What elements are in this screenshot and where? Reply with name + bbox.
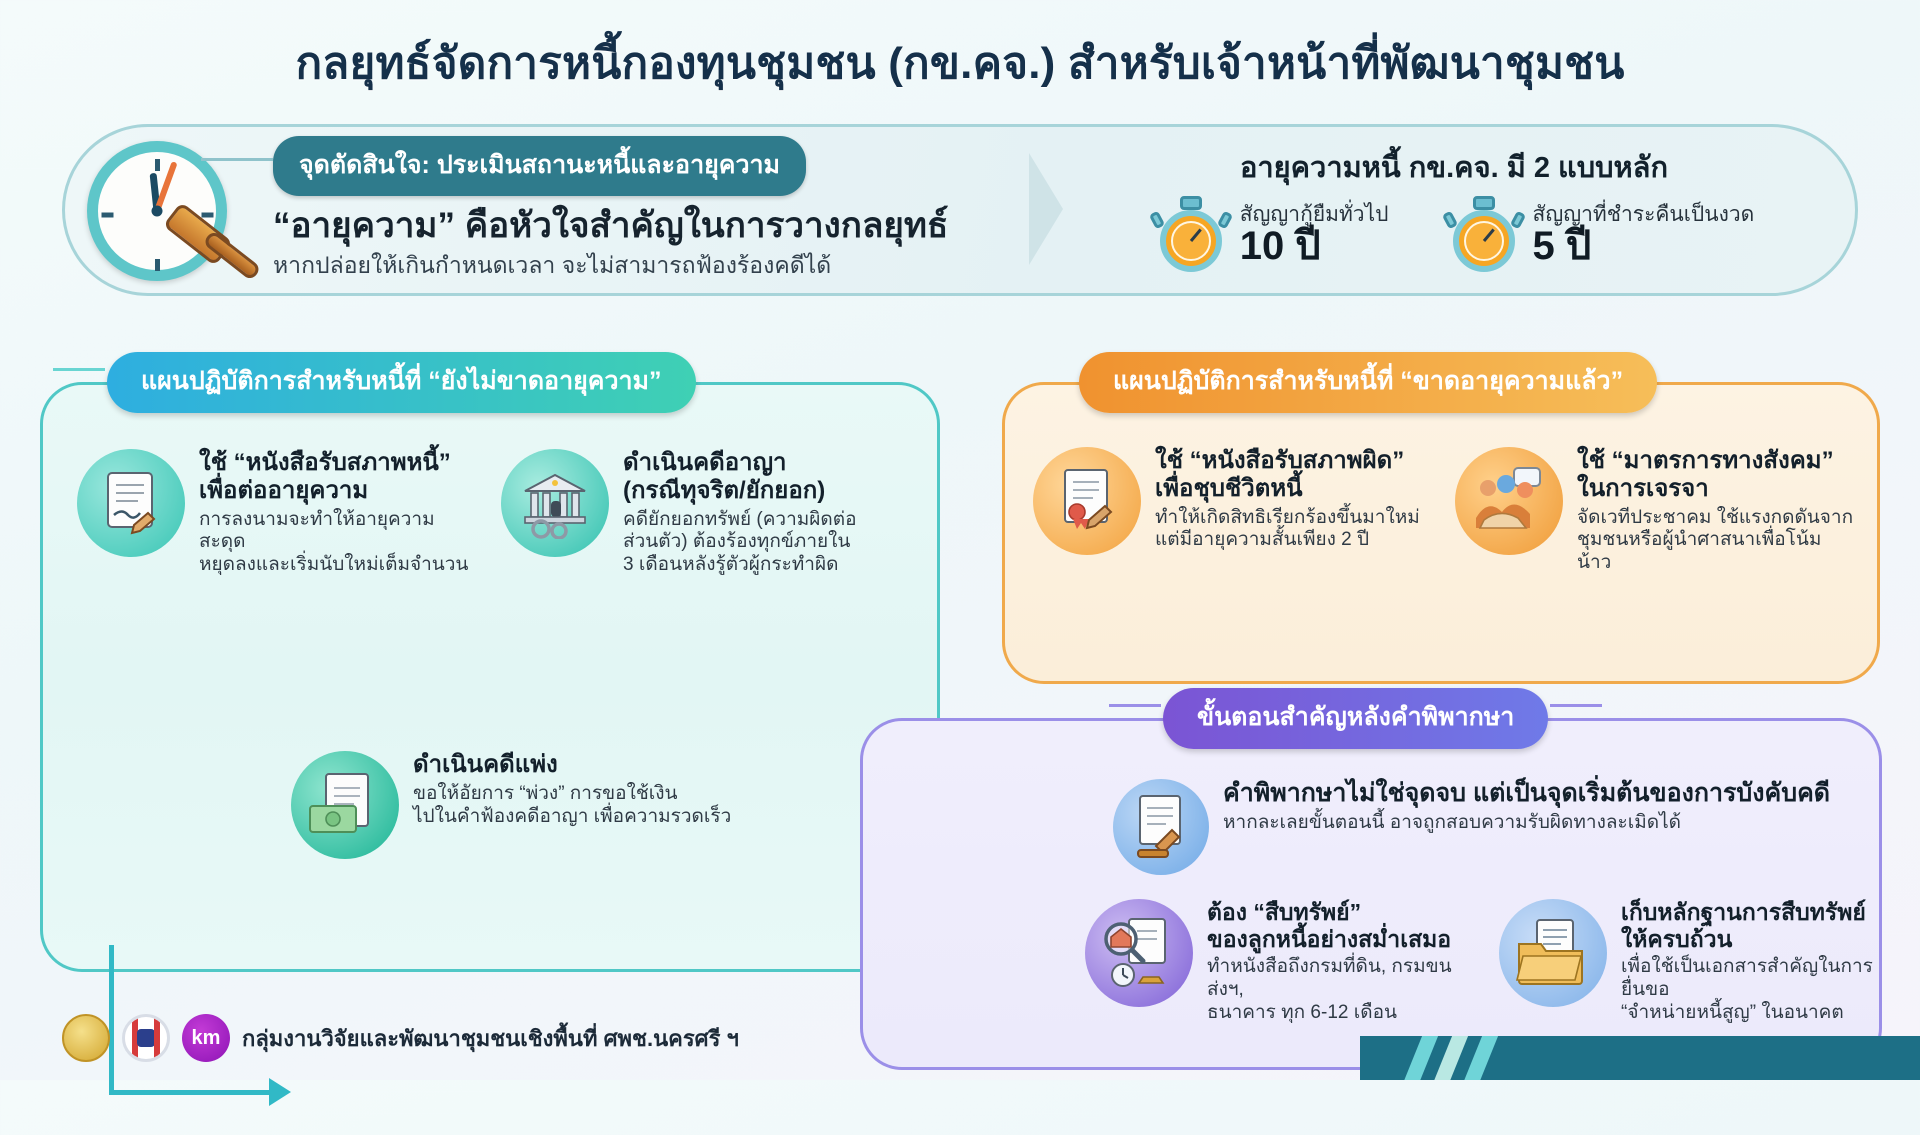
- card-body-line1: ทำให้เกิดสิทธิเรียกร้องขึ้นมาใหม่: [1155, 507, 1420, 528]
- card-body-line1: เพื่อใช้เป็นเอกสารสำคัญในการยื่นขอ: [1621, 956, 1873, 1000]
- chevron-right-icon: [1023, 135, 1077, 285]
- thai-flag-emblem-logo: [122, 1014, 170, 1062]
- stopwatch-icon: [1447, 194, 1521, 276]
- card-body-line2: ไปในคำฟ้องคดีอาญา เพื่อความรวดเร็ว: [413, 806, 731, 827]
- card-title-line2: เพื่อชุบชีวิตหนี้: [1155, 475, 1303, 502]
- header-connector-line-right: [1550, 704, 1602, 707]
- card-title-line1: คำพิพากษาไม่ใช่จุดจบ แต่เป็นจุดเริ่มต้นข…: [1223, 779, 1830, 807]
- card-title-line1: ใช้ “หนังสือรับสภาพผิด”: [1155, 447, 1404, 474]
- stopwatch-icon: [1154, 194, 1228, 276]
- card-body-line3: 3 เดือนหลังรู้ตัวผู้กระทำผิด: [623, 554, 838, 575]
- courthouse-handcuffs-icon: [501, 449, 609, 557]
- card-title-line1: ใช้ “หนังสือรับสภาพหนี้”: [199, 449, 451, 476]
- card-asset-search: ต้อง “สืบทรัพย์” ของลูกหนี้อย่างสม่ำเสมอ…: [1085, 899, 1469, 1025]
- panel-not-time-barred: แผนปฏิบัติการสำหรับหนี้ที่ “ยังไม่ขาดอาย…: [40, 382, 940, 972]
- panel-header-label: แผนปฏิบัติการสำหรับหนี้ที่ “ยังไม่ขาดอาย…: [141, 367, 662, 395]
- decision-point-pill: จุดตัดสินใจ: ประเมินสถานะหนี้และอายุความ: [273, 136, 806, 196]
- card-evidence-collection: เก็บหลักฐานการสืบทรัพย์ ให้ครบถ้วน เพื่อ…: [1499, 899, 1883, 1025]
- card-civil-case: ดำเนินคดีแพ่ง ขอให้อัยการ “พ่วง” การขอใช…: [291, 751, 851, 859]
- timer-item: สัญญาที่ชำระคืนเป็นงวด 5 ปี: [1447, 194, 1755, 276]
- card-body-line1: ขอให้อัยการ “พ่วง” การขอใช้เงิน: [413, 783, 678, 804]
- panel-header-not-time-barred: แผนปฏิบัติการสำหรับหนี้ที่ “ยังไม่ขาดอาย…: [107, 352, 696, 413]
- header-connector-line: [53, 368, 105, 371]
- card-body-line2: ชุมชนหรือผู้นำศาสนาเพื่อโน้มน้าว: [1577, 529, 1821, 573]
- money-document-icon: [291, 751, 399, 859]
- banner-headline: “อายุความ” คือหัวใจสำคัญในการวางกลยุทธ์: [273, 206, 1023, 246]
- panel-header-post-judgment: ขั้นตอนสำคัญหลังคำพิพากษา: [1163, 688, 1548, 749]
- card-row: ต้อง “สืบทรัพย์” ของลูกหนี้อย่างสม่ำเสมอ…: [1085, 899, 1883, 1025]
- gavel-icon: [155, 203, 265, 289]
- panel-header-time-barred: แผนปฏิบัติการสำหรับหนี้ที่ “ขาดอายุความแ…: [1079, 352, 1657, 413]
- timer-label: สัญญาที่ชำระคืนเป็นงวด: [1533, 204, 1755, 225]
- card-body-line1: ทำหนังสือถึงกรมที่ดิน, กรมขนส่งฯ,: [1207, 956, 1452, 1000]
- card-title-line2: เพื่อต่ออายุความ: [199, 477, 368, 504]
- card-judgment-start: คำพิพากษาไม่ใช่จุดจบ แต่เป็นจุดเริ่มต้นข…: [1113, 779, 1853, 875]
- card-body-line1: หากละเลยขั้นตอนนี้ อาจถูกสอบความรับผิดทา…: [1223, 812, 1681, 833]
- card-title-line1: ต้อง “สืบทรัพย์”: [1207, 899, 1361, 925]
- card-row: ดำเนินคดีแพ่ง ขอให้อัยการ “พ่วง” การขอใช…: [291, 751, 851, 859]
- page-title: กลยุทธ์จัดการหนี้กองทุนชุมชน (กข.คจ.) สำ…: [0, 0, 1920, 98]
- card-body-line2: ส่วนตัว) ต้องร้องทุกข์ภายใน: [623, 531, 850, 552]
- asset-search-icon: [1085, 899, 1193, 1007]
- card-liability-acknowledgement: ใช้ “หนังสือรับสภาพผิด” เพื่อชุบชีวิตหนี…: [1033, 447, 1433, 575]
- card-body-line2: “จำหน่ายหนี้สูญ” ในอนาคต: [1621, 1002, 1844, 1023]
- banner-subtext: หากปล่อยให้เกินกำหนดเวลา จะไม่สามารถฟ้อง…: [273, 248, 1023, 284]
- card-criminal-case: ดำเนินคดีอาญา (กรณีทุจริต/ยักยอก) คดียัก…: [501, 449, 901, 577]
- header-connector-line-left: [1109, 704, 1161, 707]
- km-logo: km: [182, 1014, 230, 1062]
- card-body-line1: การลงนามจะทำให้อายุความสะดุด: [199, 509, 435, 553]
- timer-value: 5 ปี: [1533, 225, 1755, 267]
- card-row: คำพิพากษาไม่ใช่จุดจบ แต่เป็นจุดเริ่มต้นข…: [1113, 779, 1853, 875]
- card-body-line1: คดียักยอกทรัพย์ (ความผิดต่อ: [623, 509, 857, 530]
- panel-time-barred: แผนปฏิบัติการสำหรับหนี้ที่ “ขาดอายุความแ…: [1002, 382, 1880, 684]
- card-title-line1: เก็บหลักฐานการสืบทรัพย์: [1621, 899, 1866, 925]
- timer-label: สัญญากู้ยืมทั่วไป: [1240, 204, 1389, 225]
- prescription-types-title: อายุความหนี้ กข.คจ. มี 2 แบบหลัก: [1077, 144, 1831, 190]
- timer-value: 10 ปี: [1240, 225, 1389, 267]
- footer: km กลุ่มงานวิจัยและพัฒนาชุมชนเชิงพื้นที่…: [62, 1014, 739, 1062]
- panel-post-judgment: ขั้นตอนสำคัญหลังคำพิพากษา คำพิพากษาไม่ใช…: [860, 718, 1882, 1070]
- card-title-line1: ใช้ “มาตรการทางสังคม”: [1577, 447, 1834, 474]
- garuda-seal-logo: [62, 1014, 110, 1062]
- card-title-line2: (กรณีทุจริต/ยักยอก): [623, 477, 825, 504]
- community-meeting-icon: [1455, 447, 1563, 555]
- timer-item: สัญญากู้ยืมทั่วไป 10 ปี: [1154, 194, 1389, 276]
- judgment-gavel-icon: [1113, 779, 1209, 875]
- certificate-seal-icon: [1033, 447, 1141, 555]
- card-title-line2: ในการเจรจา: [1577, 475, 1709, 502]
- card-title-line2: ให้ครบถ้วน: [1621, 926, 1732, 952]
- card-title-line1: ดำเนินคดีอาญา: [623, 449, 787, 476]
- card-title-line1: ดำเนินคดีแพ่ง: [413, 751, 558, 778]
- folder-documents-icon: [1499, 899, 1607, 1007]
- card-body-line2: หยุดลงและเริ่มนับใหม่เต็มจำนวน: [199, 554, 468, 575]
- card-row: ใช้ “หนังสือรับสภาพหนี้” เพื่อต่ออายุควา…: [77, 449, 901, 577]
- footer-organization-text: กลุ่มงานวิจัยและพัฒนาชุมชนเชิงพื้นที่ ศพ…: [242, 1021, 739, 1056]
- card-row: ใช้ “หนังสือรับสภาพผิด” เพื่อชุบชีวิตหนี…: [1033, 447, 1855, 575]
- card-debt-acknowledgement: ใช้ “หนังสือรับสภาพหนี้” เพื่อต่ออายุควา…: [77, 449, 477, 577]
- decision-point-banner: จุดตัดสินใจ: ประเมินสถานะหนี้และอายุความ…: [62, 124, 1858, 296]
- card-body-line2: แต่มีอายุความสั้นเพียง 2 ปี: [1155, 529, 1369, 550]
- card-title-line2: ของลูกหนี้อย่างสม่ำเสมอ: [1207, 926, 1451, 952]
- corner-decoration: [1360, 1036, 1920, 1080]
- card-body-line1: จัดเวทีประชาคม ใช้แรงกดดันจาก: [1577, 507, 1853, 528]
- signed-document-icon: [77, 449, 185, 557]
- panel-header-label: แผนปฏิบัติการสำหรับหนี้ที่ “ขาดอายุความแ…: [1113, 367, 1623, 395]
- banner-connector-line: [201, 158, 273, 161]
- card-body-line2: ธนาคาร ทุก 6-12 เดือน: [1207, 1002, 1397, 1023]
- card-social-measures: ใช้ “มาตรการทางสังคม” ในการเจรจา จัดเวที…: [1455, 447, 1855, 575]
- panel-header-label: ขั้นตอนสำคัญหลังคำพิพากษา: [1197, 703, 1514, 731]
